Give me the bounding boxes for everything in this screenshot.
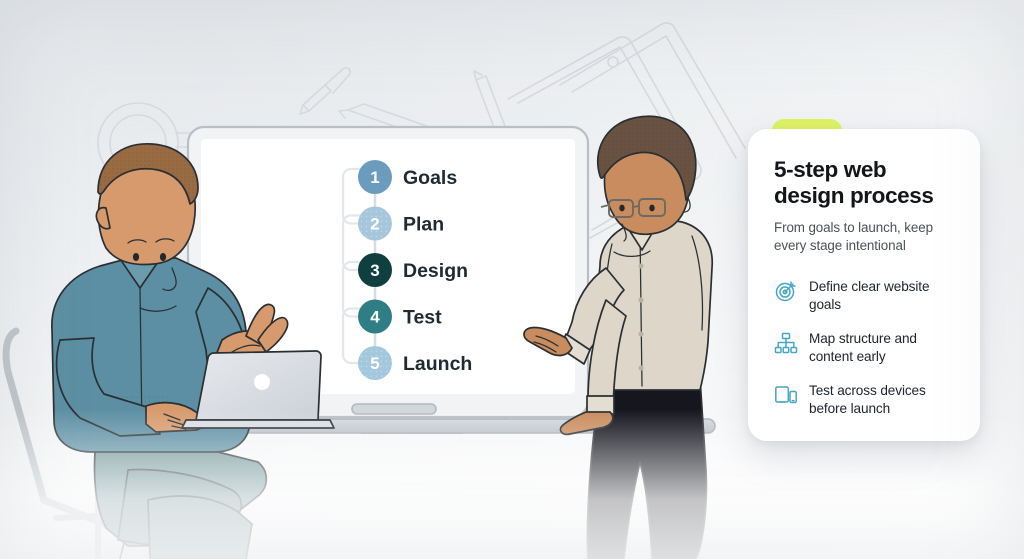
list-item-label: Define clear website goals: [809, 278, 956, 314]
info-card: 5-step web design process From goals to …: [748, 129, 980, 441]
sitemap-icon: [774, 331, 798, 355]
list-item-label: Map structure and content early: [809, 330, 956, 366]
target-icon: [774, 279, 798, 303]
list-item: Define clear website goals: [774, 278, 956, 314]
illustration-scene: 1Goals2Plan3Design4Test5Launch: [0, 0, 1024, 559]
list-item: Test across devices before launch: [774, 382, 956, 418]
card-bullet-list: Define clear website goals: [774, 278, 956, 418]
list-item: Map structure and content early: [774, 330, 956, 366]
card-subtitle: From goals to launch, keep every stage i…: [774, 219, 956, 255]
devices-icon: [774, 383, 798, 407]
card-title: 5-step web design process: [774, 157, 956, 210]
list-item-label: Test across devices before launch: [809, 382, 956, 418]
